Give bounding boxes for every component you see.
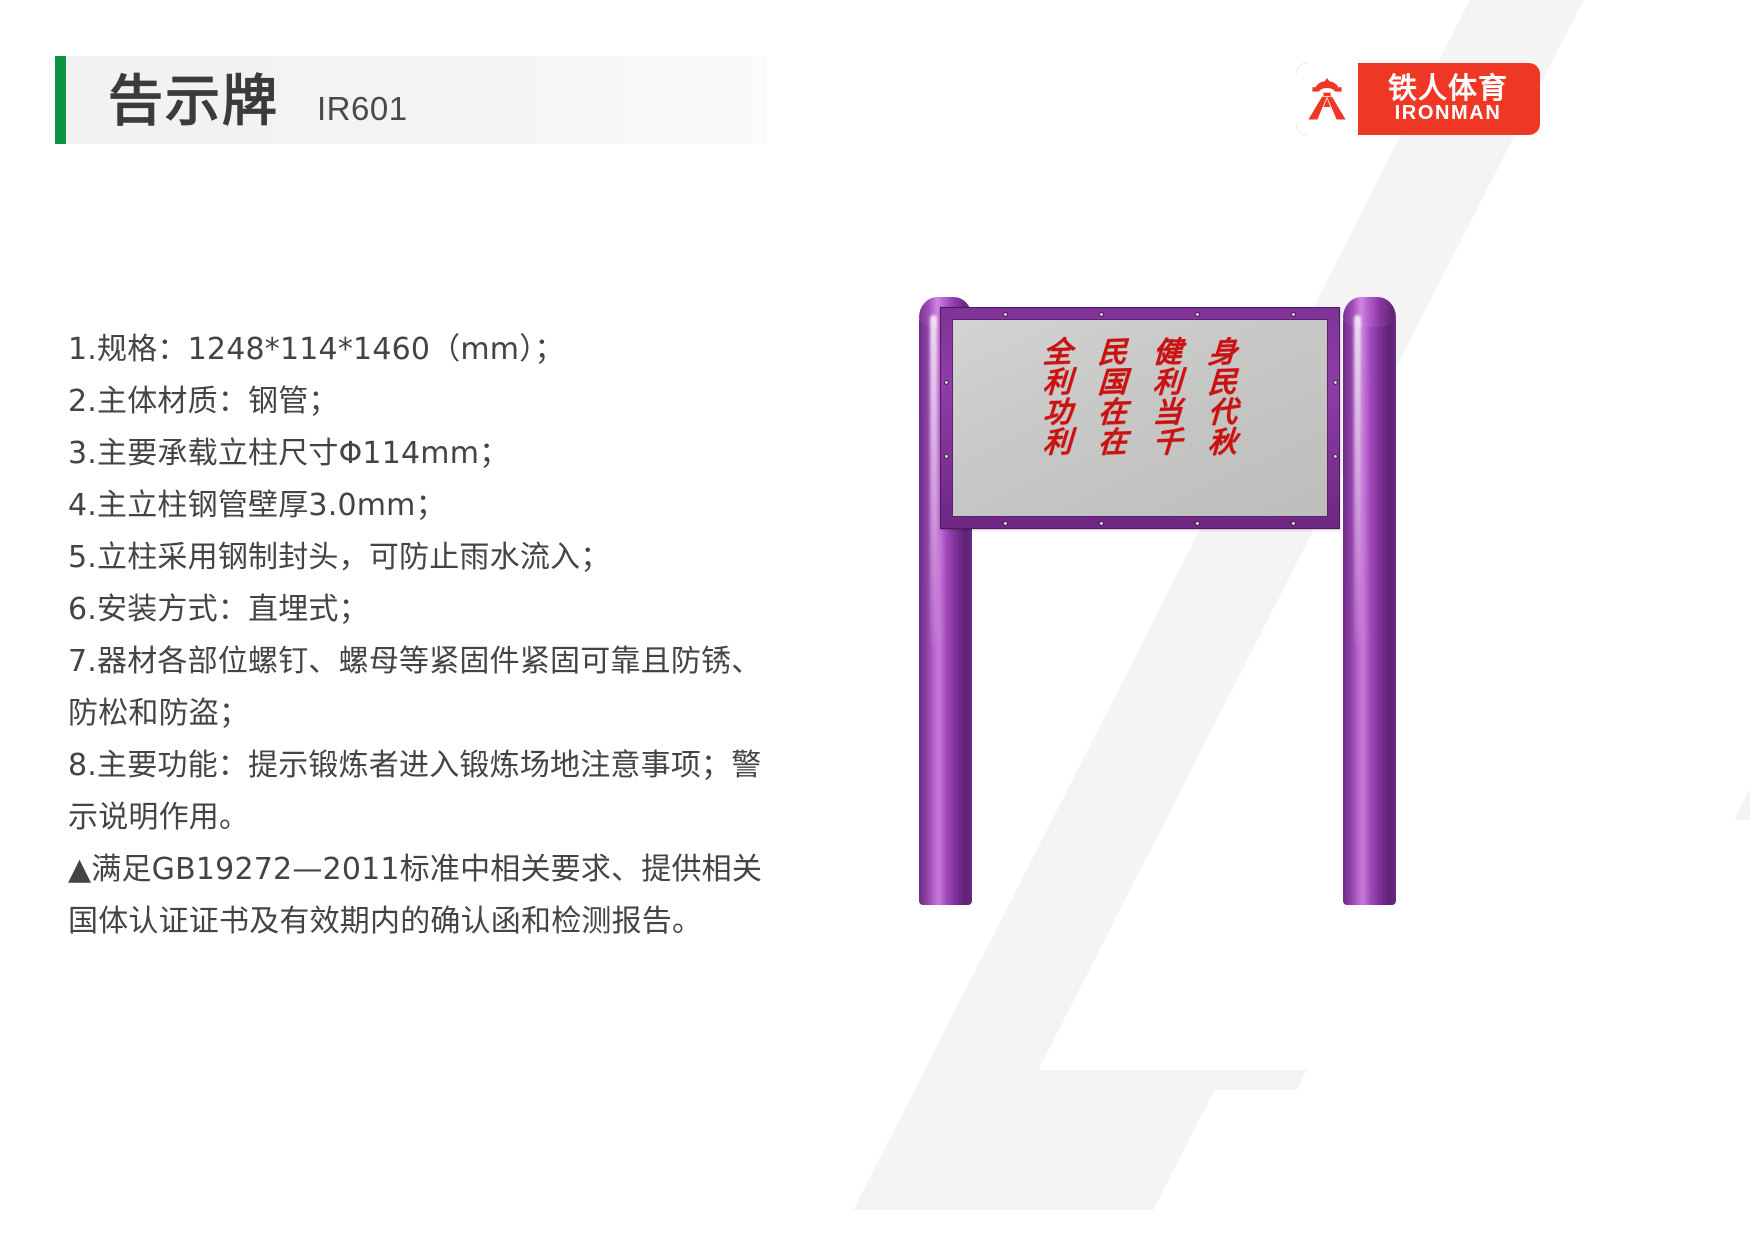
frame-screw — [1333, 380, 1338, 385]
spec-line: 8.主要功能：提示锻炼者进入锻炼场地注意事项；警示说明作用。 — [68, 740, 768, 844]
spec-line: 6.安装方式：直埋式； — [68, 584, 768, 636]
spec-line: 7.器材各部位螺钉、螺母等紧固件紧固可靠且防锈、防松和防盗； — [68, 636, 768, 740]
calligraphy-char: 全 — [1042, 338, 1073, 367]
calligraphy-char: 在 — [1097, 428, 1128, 457]
frame-screw — [1003, 521, 1008, 526]
post-highlight-right — [1354, 315, 1361, 645]
calligraphy-column: 身 民 代 秋 — [1208, 338, 1237, 457]
product-illustration: 身 民 代 秋 健 利 当 千 民 国 在 在 — [905, 285, 1410, 905]
frame-screw — [1291, 521, 1296, 526]
header-text-group: 告示牌 IR601 — [66, 73, 408, 128]
spec-line: ▲满足GB19272—2011标准中相关要求、提供相关国体认证证书及有效期内的确… — [68, 844, 768, 948]
brand-logo: 铁人体育 IRONMAN — [1296, 63, 1540, 135]
frame-screw — [944, 380, 949, 385]
frame-screw — [1333, 454, 1338, 459]
post-highlight-left — [930, 315, 937, 645]
spec-line: 4.主立柱钢管壁厚3.0mm； — [68, 480, 768, 532]
watermark-chevron-5 — [1159, 553, 1481, 733]
brand-name-en: IRONMAN — [1395, 103, 1502, 124]
calligraphy-char: 千 — [1152, 428, 1183, 457]
ironman-figure-icon — [1296, 63, 1358, 135]
post-cap-right — [1343, 297, 1396, 327]
calligraphy-column: 全 利 功 利 — [1043, 338, 1072, 457]
calligraphy-char: 代 — [1207, 398, 1238, 427]
brand-wordmark: 铁人体育 IRONMAN — [1358, 63, 1540, 135]
calligraphy-column: 民 国 在 在 — [1098, 338, 1127, 457]
calligraphy-char: 健 — [1152, 338, 1183, 367]
frame-screw — [1099, 312, 1104, 317]
calligraphy-char: 利 — [1042, 428, 1073, 457]
watermark-mask-4 — [1400, 410, 1754, 550]
page-title: 告示牌 — [108, 73, 279, 128]
calligraphy-char: 当 — [1152, 398, 1183, 427]
calligraphy-char: 在 — [1097, 398, 1128, 427]
calligraphy-char: 利 — [1152, 368, 1183, 397]
frame-screw — [944, 454, 949, 459]
specification-list: 1.规格：1248*114*1460（mm）； 2.主体材质：钢管； 3.主要承… — [68, 324, 768, 948]
page-header: 告示牌 IR601 — [55, 56, 767, 144]
spec-line: 5.立柱采用钢制封头，可防止雨水流入； — [68, 532, 768, 584]
brand-name-cn: 铁人体育 — [1388, 73, 1508, 103]
page-root: 告示牌 IR601 铁人体育 IRONMAN 1.规格：1248*11 — [0, 0, 1754, 1240]
calligraphy-column: 健 利 当 千 — [1153, 338, 1182, 457]
calligraphy-char: 国 — [1097, 368, 1128, 397]
spec-line: 2.主体材质：钢管； — [68, 376, 768, 428]
frame-screw — [1099, 521, 1104, 526]
calligraphy-char: 身 — [1207, 338, 1238, 367]
product-code: IR601 — [317, 90, 408, 128]
sign-board-face: 身 民 代 秋 健 利 当 千 民 国 在 在 — [952, 319, 1328, 517]
header-accent-bar — [55, 56, 66, 144]
frame-screw — [1195, 521, 1200, 526]
watermark-chevron-4 — [1400, 205, 1754, 405]
spec-line: 3.主要承载立柱尺寸Φ114mm； — [68, 428, 768, 480]
calligraphy-char: 秋 — [1207, 428, 1238, 457]
frame-screw — [1003, 312, 1008, 317]
calligraphy-char: 民 — [1207, 368, 1238, 397]
support-post-right — [1343, 297, 1396, 905]
calligraphy-char: 功 — [1042, 398, 1073, 427]
calligraphy-char: 民 — [1097, 338, 1128, 367]
sign-board-frame: 身 民 代 秋 健 利 当 千 民 国 在 在 — [940, 307, 1340, 529]
frame-screw — [1195, 312, 1200, 317]
spec-line: 1.规格：1248*114*1460（mm）； — [68, 324, 768, 376]
calligraphy-char: 利 — [1042, 368, 1073, 397]
frame-screw — [1291, 312, 1296, 317]
